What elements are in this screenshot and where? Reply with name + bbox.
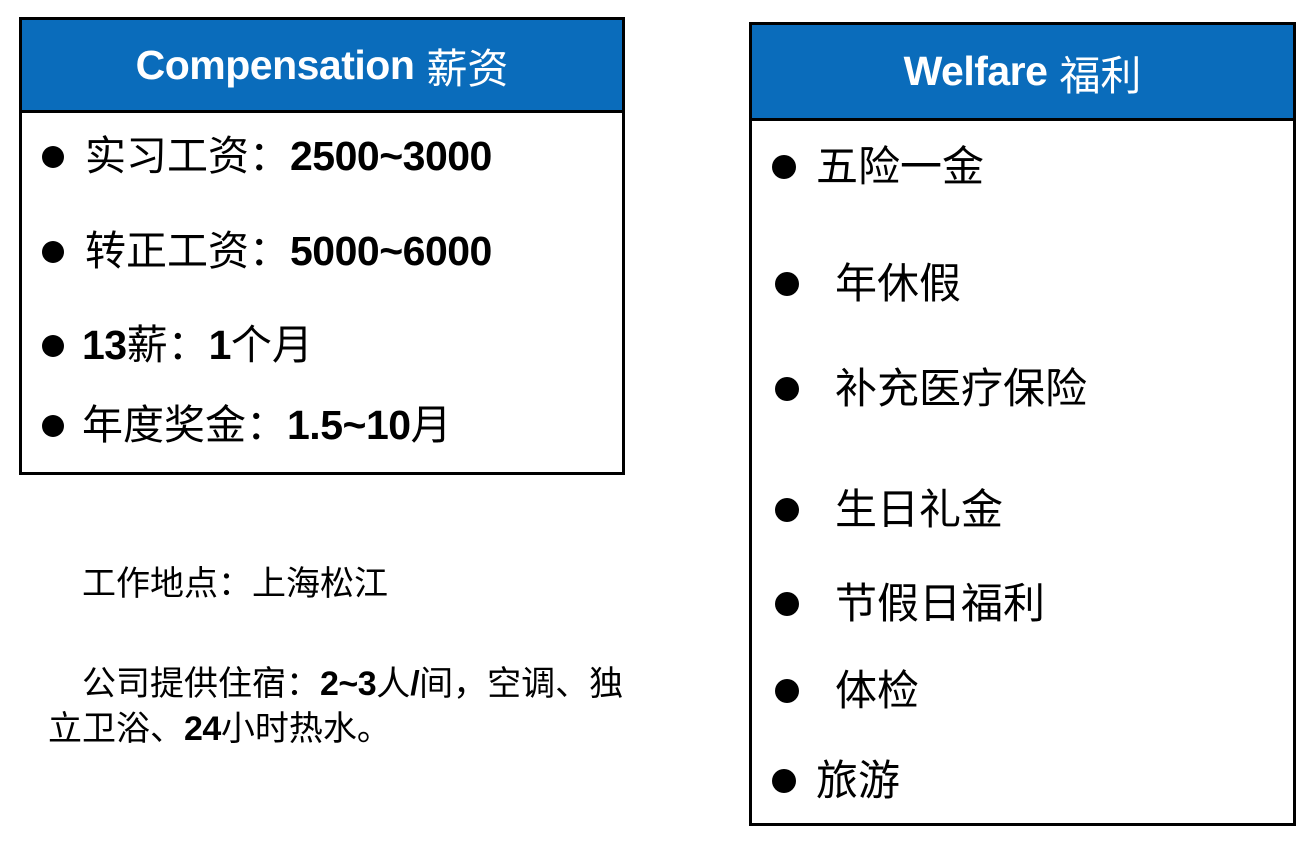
accommodation-room-and-ac: 间，空调、 <box>419 666 589 703</box>
bullet-dot-icon <box>42 335 64 357</box>
slide-canvas: Compensation 薪资 实习工资：2500~3000 转正工资：5000… <box>0 0 1315 841</box>
compensation-header-english: Compensation <box>136 42 415 89</box>
bullet-dot-icon <box>775 679 799 703</box>
welfare-item-7-label: 旅游 <box>816 761 900 803</box>
compensation-item-3-value: 13 <box>82 322 127 368</box>
list-item-label: 年度奖金：1.5~10月 <box>82 405 452 446</box>
bullet-dot-icon <box>775 377 799 401</box>
welfare-item-6-label: 体检 <box>835 671 919 713</box>
bullet-dot-icon <box>772 155 796 179</box>
welfare-panel: Welfare 福利 五险一金 年休假 补充医疗保险 生日礼金 <box>749 22 1296 826</box>
list-item: 五险一金 <box>772 147 984 189</box>
compensation-item-3-value2: 1 <box>209 322 231 368</box>
bullet-dot-icon <box>775 592 799 616</box>
bullet-dot-icon <box>42 241 64 263</box>
compensation-panel: Compensation 薪资 实习工资：2500~3000 转正工资：5000… <box>19 17 625 475</box>
bullet-dot-icon <box>42 146 64 168</box>
bullet-dot-icon <box>775 498 799 522</box>
list-item: 旅游 <box>772 761 900 803</box>
welfare-item-4-label: 生日礼金 <box>835 490 1003 532</box>
welfare-item-1-label: 五险一金 <box>816 147 984 189</box>
accommodation-note: 公司提供住宿：2~3人/间，空调、独立卫浴、24小时热水。 <box>48 618 648 796</box>
welfare-header-chinese: 福利 <box>1059 42 1141 102</box>
list-item: 节假日福利 <box>775 584 1045 626</box>
list-item: 实习工资：2500~3000 <box>42 136 492 177</box>
list-item: 生日礼金 <box>775 490 1003 532</box>
compensation-item-1-label: 实习工资： <box>85 133 290 179</box>
compensation-item-2-value: 5000~6000 <box>290 228 492 274</box>
list-item: 年度奖金：1.5~10月 <box>42 405 452 446</box>
accommodation-occupancy: 2~3 <box>320 665 376 703</box>
compensation-item-4-suffix: 月 <box>411 402 452 448</box>
accommodation-hours: 24 <box>184 710 221 748</box>
bullet-dot-icon <box>775 272 799 296</box>
compensation-item-2-label: 转正工资： <box>85 228 290 274</box>
list-item: 年休假 <box>775 264 961 306</box>
compensation-item-3-suffix: 个月 <box>231 322 313 368</box>
bullet-dot-icon <box>42 415 64 437</box>
work-location-text: 工作地点：上海松江 <box>82 566 388 603</box>
welfare-header-english: Welfare <box>904 48 1048 95</box>
compensation-header-chinese: 薪资 <box>426 35 508 95</box>
list-item: 转正工资：5000~6000 <box>42 231 492 272</box>
accommodation-unit-person: 人 <box>376 666 410 703</box>
list-item: 体检 <box>775 671 919 713</box>
compensation-item-3-label: 薪： <box>127 322 209 368</box>
accommodation-prefix: 公司提供住宿： <box>82 666 320 703</box>
welfare-panel-header: Welfare 福利 <box>752 25 1293 121</box>
list-item: 补充医疗保险 <box>775 369 1087 411</box>
welfare-item-5-label: 节假日福利 <box>835 584 1045 626</box>
compensation-item-1-value: 2500~3000 <box>290 133 492 179</box>
list-item-label: 转正工资：5000~6000 <box>85 231 492 272</box>
accommodation-slash: / <box>410 665 419 703</box>
bullet-dot-icon <box>772 769 796 793</box>
accommodation-hot-water: 小时热水。 <box>221 711 391 748</box>
list-item-label: 13薪：1个月 <box>82 325 313 366</box>
compensation-panel-header: Compensation 薪资 <box>22 20 622 113</box>
welfare-item-3-label: 补充医疗保险 <box>835 369 1087 411</box>
list-item: 13薪：1个月 <box>42 325 313 366</box>
compensation-item-4-label: 年度奖金： <box>82 402 287 448</box>
welfare-item-2-label: 年休假 <box>835 264 961 306</box>
compensation-item-4-value: 1.5~10 <box>287 402 411 448</box>
list-item-label: 实习工资：2500~3000 <box>85 136 492 177</box>
